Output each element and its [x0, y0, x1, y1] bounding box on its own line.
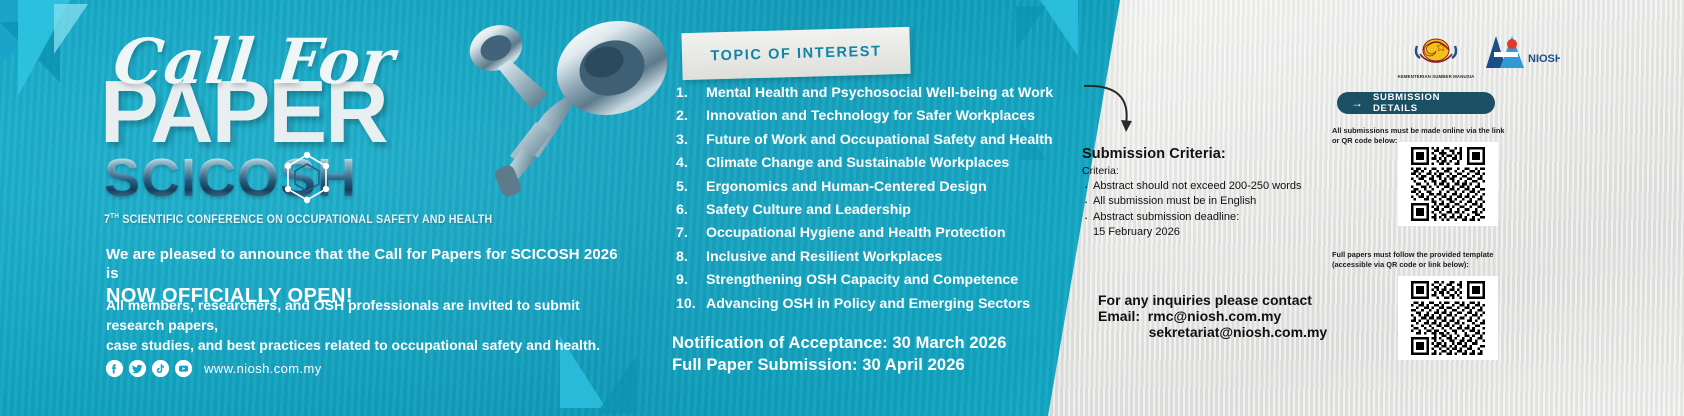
contact-email-1[interactable]: Email: rmc@niosh.com.my [1098, 308, 1327, 324]
topic-of-interest-label: TOPIC OF INTEREST [710, 43, 882, 64]
topic-label: Ergonomics and Human-Centered Design [706, 180, 1076, 194]
list-item: 2. Innovation and Technology for Safer W… [676, 109, 1076, 123]
topics-list: 1. Mental Health and Psychosocial Well-b… [676, 86, 1076, 320]
topic-number: 9. [676, 273, 706, 287]
list-item: 10. Advancing OSH in Policy and Emerging… [676, 297, 1076, 311]
qr-caption-template: Full papers must follow the provided tem… [1332, 250, 1507, 270]
topic-label: Strengthening OSH Capacity and Competenc… [706, 273, 1076, 287]
list-item: 1. Mental Health and Psychosocial Well-b… [676, 86, 1076, 100]
headline-block: Call For PAPER SCICOSH 7TH SCIENTIF [104, 34, 574, 226]
list-item: 4. Climate Change and Sustainable Workpl… [676, 156, 1076, 170]
list-item: Abstract submission deadline: 15 Februar… [1082, 210, 1342, 241]
tiktok-icon[interactable] [152, 360, 169, 377]
niosh-logo: NIOSH [1478, 30, 1560, 76]
list-item: 6. Safety Culture and Leadership [676, 203, 1076, 217]
submission-details-label: SUBMISSION DETAILS [1373, 92, 1481, 114]
ministry-caption: KEMENTERIAN SUMBER MANUSIA [1392, 74, 1480, 79]
topic-label: Occupational Hygiene and Health Protecti… [706, 226, 1076, 240]
twitter-icon[interactable] [129, 360, 146, 377]
topic-number: 4. [676, 156, 706, 170]
deadlines-block: Notification of Acceptance: 30 March 202… [672, 333, 1007, 377]
topic-of-interest-banner: TOPIC OF INTEREST [681, 27, 910, 80]
call-for-text: Call For [111, 34, 577, 90]
topic-number: 2. [676, 109, 706, 123]
criteria-list: Abstract should not exceed 200-250 words… [1082, 179, 1342, 241]
topic-label: Mental Health and Psychosocial Well-bein… [706, 86, 1076, 100]
criteria-deadline-label: Abstract submission deadline: [1093, 211, 1239, 223]
submission-criteria-title: Submission Criteria: [1082, 146, 1342, 162]
topic-number: 10. [676, 297, 706, 311]
ordinal-suffix: TH [110, 213, 119, 220]
list-item: 9. Strengthening OSH Capacity and Compet… [676, 273, 1076, 287]
decor-triangle-icon [596, 356, 636, 414]
list-item: Abstract should not exceed 200-250 words [1082, 179, 1342, 194]
criteria-deadline-date: 15 February 2026 [1093, 225, 1342, 240]
topic-number: 7. [676, 226, 706, 240]
topic-label: Climate Change and Sustainable Workplace… [706, 156, 1076, 170]
topic-number: 1. [676, 86, 706, 100]
arrow-right-icon: → [1351, 97, 1363, 109]
notification-deadline: Notification of Acceptance: 30 March 202… [672, 333, 1007, 355]
decor-triangle-icon [54, 4, 88, 54]
list-item: 3. Future of Work and Occupational Safet… [676, 133, 1076, 147]
list-item: All submission must be in English [1082, 194, 1342, 209]
topic-number: 5. [676, 180, 706, 194]
criteria-label: Criteria: [1082, 165, 1342, 177]
scicosh-logo: SCICOSH [104, 151, 574, 209]
submission-details-button[interactable]: → SUBMISSION DETAILS [1337, 92, 1495, 114]
ministry-crest-icon: KEMENTERIAN SUMBER MANUSIA [1392, 28, 1480, 76]
topic-number: 8. [676, 250, 706, 264]
facebook-icon[interactable] [106, 360, 123, 377]
topic-number: 3. [676, 133, 706, 147]
topic-label: Future of Work and Occupational Safety a… [706, 133, 1076, 147]
youtube-icon[interactable] [175, 360, 192, 377]
curved-arrow-icon [1080, 80, 1150, 140]
topic-label: Inclusive and Resilient Workplaces [706, 250, 1076, 264]
qr-code-submission[interactable] [1398, 142, 1498, 226]
svg-text:NIOSH: NIOSH [1528, 53, 1560, 65]
topic-label: Innovation and Technology for Safer Work… [706, 109, 1076, 123]
list-item: 5. Ergonomics and Human-Centered Design [676, 180, 1076, 194]
conference-subtitle-text: SCIENTIFIC CONFERENCE ON OCCUPATIONAL SA… [119, 214, 492, 226]
scicosh-logo-text: SCICOSH [104, 151, 574, 205]
list-item: 7. Occupational Hygiene and Health Prote… [676, 226, 1076, 240]
announcement-line-1: We are pleased to announce that the Call… [106, 246, 626, 284]
invitation-block: All members, researchers, and OSH profes… [106, 296, 636, 356]
qr-code-template[interactable] [1398, 276, 1498, 360]
invitation-line-2: case studies, and best practices related… [106, 336, 636, 356]
contact-email-2[interactable]: sekretariat@niosh.com.my [1098, 324, 1327, 340]
conference-subtitle: 7TH SCIENTIFIC CONFERENCE ON OCCUPATIONA… [104, 213, 541, 226]
full-paper-deadline: Full Paper Submission: 30 April 2026 [672, 355, 1007, 377]
website-url[interactable]: www.niosh.com.my [204, 361, 322, 376]
topic-number: 6. [676, 203, 706, 217]
contact-title: For any inquiries please contact [1098, 292, 1327, 308]
topic-label: Advancing OSH in Policy and Emerging Sec… [706, 297, 1076, 311]
social-links: www.niosh.com.my [106, 360, 322, 377]
call-for-paper-banner: Call For PAPER SCICOSH 7TH SCIENTIF [0, 0, 1684, 416]
hexagon-network-icon [276, 147, 338, 209]
decor-triangle-icon [1016, 6, 1046, 50]
list-item: 8. Inclusive and Resilient Workplaces [676, 250, 1076, 264]
invitation-line-1: All members, researchers, and OSH profes… [106, 296, 636, 336]
submission-criteria-block: Submission Criteria: Criteria: Abstract … [1082, 146, 1342, 241]
contact-block: For any inquiries please contact Email: … [1098, 292, 1327, 340]
topic-label: Safety Culture and Leadership [706, 203, 1076, 217]
